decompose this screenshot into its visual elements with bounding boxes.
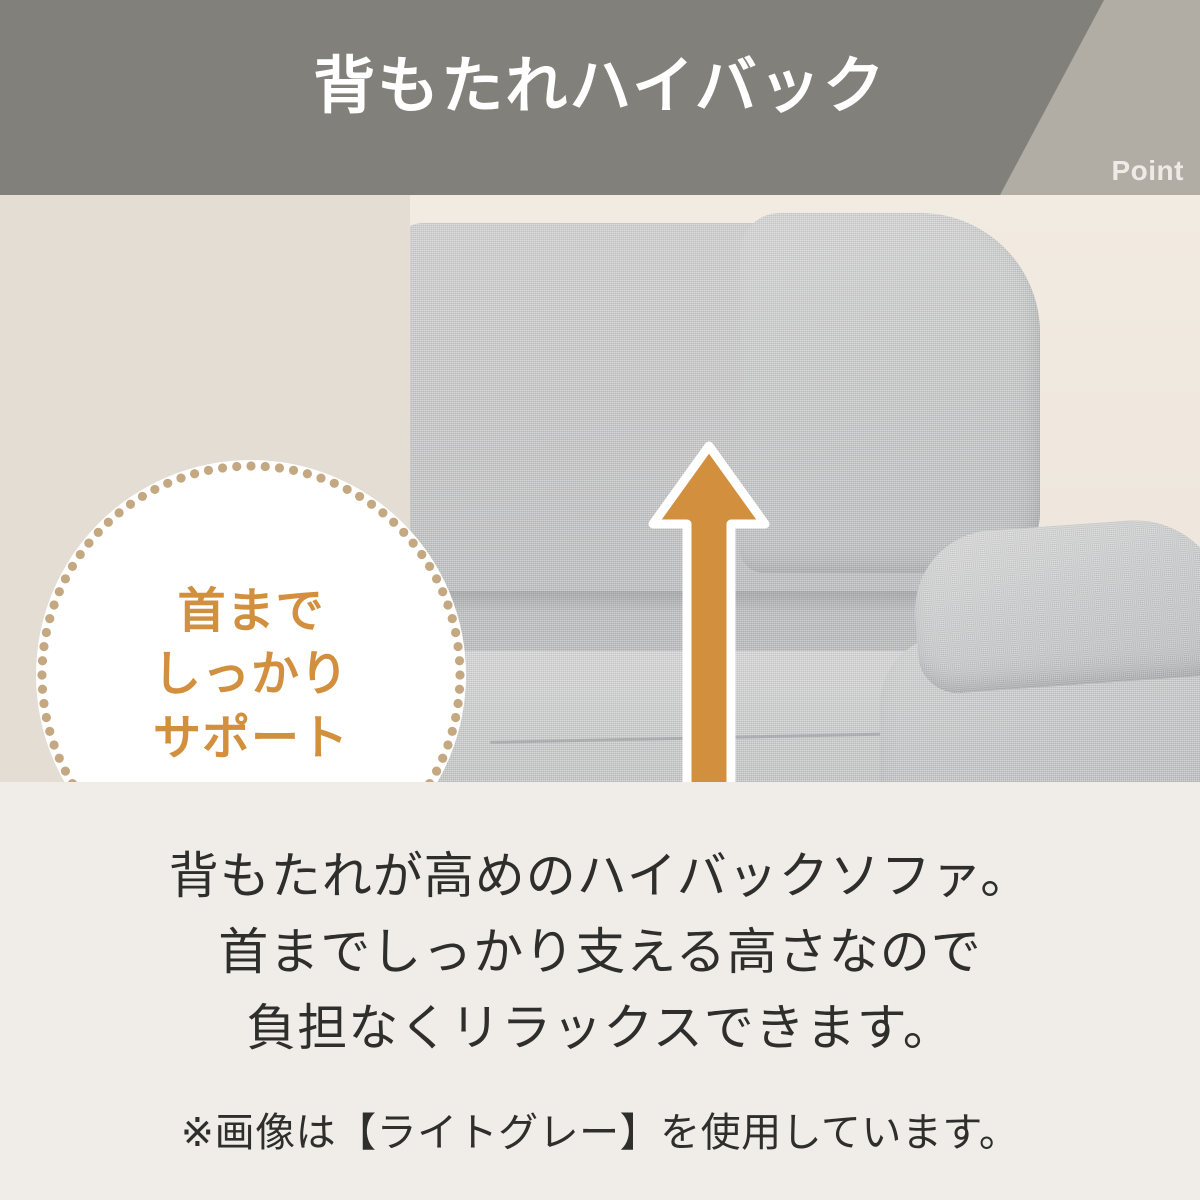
description-line-1: 背もたれが高めのハイバックソファ。 (0, 838, 1200, 914)
description-text: 背もたれが高めのハイバックソファ。 首までしっかり支える高さなので 負担なくリラ… (0, 838, 1200, 1066)
badge-line-1: 首まで (177, 580, 324, 643)
badge-line-2: しっかり (153, 643, 349, 706)
header-banner: 背もたれハイバック Point (0, 0, 1200, 195)
photo-section: 首まで しっかり サポート (0, 195, 1200, 782)
badge-line-3: サポート (153, 707, 349, 770)
support-badge: 首まで しっかり サポート (36, 460, 466, 782)
badge-text: 首まで しっかり サポート (36, 460, 466, 782)
double-headed-vertical-arrow-icon (645, 440, 773, 782)
sofa-headrest-cushion (740, 213, 1040, 573)
color-note: ※画像は【ライトグレー】を使用しています。 (0, 1100, 1200, 1158)
point-label: Point (1112, 155, 1185, 187)
page-title: 背もたれハイバック (0, 0, 1200, 195)
sofa-armrest (910, 514, 1200, 695)
sofa-photograph (410, 195, 1200, 782)
description-line-3: 負担なくリラックスできます。 (0, 990, 1200, 1066)
product-feature-panel: 背もたれハイバック Point 首まで しっかり (0, 0, 1200, 1200)
description-section: 背もたれが高めのハイバックソファ。 首までしっかり支える高さなので 負担なくリラ… (0, 782, 1200, 1200)
description-line-2: 首までしっかり支える高さなので (0, 914, 1200, 990)
